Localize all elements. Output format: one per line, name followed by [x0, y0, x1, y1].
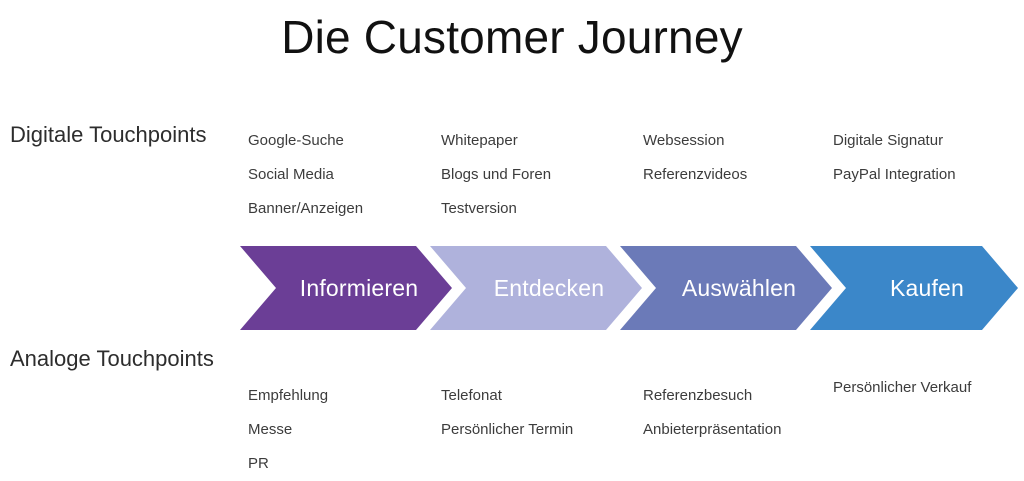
list-item: Whitepaper — [441, 124, 551, 158]
list-item: Persönlicher Termin — [441, 413, 573, 447]
analog-touchpoints-column-entdecken: Telefonat Persönlicher Termin — [441, 379, 573, 447]
list-item: Persönlicher Verkauf — [833, 371, 971, 405]
list-item: Social Media — [248, 158, 363, 192]
stage-label: Entdecken — [430, 275, 642, 302]
stage-chevron-auswaehlen[interactable]: Auswählen — [620, 246, 832, 330]
stage-label: Auswählen — [620, 275, 832, 302]
stage-chevron-kaufen[interactable]: Kaufen — [810, 246, 1018, 330]
list-item: Anbieterpräsentation — [643, 413, 781, 447]
stage-label: Kaufen — [810, 275, 1018, 302]
list-item: Telefonat — [441, 379, 573, 413]
page-title: Die Customer Journey — [0, 12, 1024, 63]
list-item: Websession — [643, 124, 747, 158]
stage-chevron-entdecken[interactable]: Entdecken — [430, 246, 642, 330]
analog-touchpoints-heading: Analoge Touchpoints — [10, 346, 214, 372]
digital-touchpoints-column-informieren: Google-Suche Social Media Banner/Anzeige… — [248, 124, 363, 226]
digital-touchpoints-column-kaufen: Digitale Signatur PayPal Integration — [833, 124, 956, 192]
analog-touchpoints-column-informieren: Empfehlung Messe PR — [248, 379, 328, 481]
digital-touchpoints-column-entdecken: Whitepaper Blogs und Foren Testversion — [441, 124, 551, 226]
list-item: PayPal Integration — [833, 158, 956, 192]
customer-journey-slide: Die Customer Journey Digitale Touchpoint… — [0, 0, 1024, 469]
list-item: Google-Suche — [248, 124, 363, 158]
analog-touchpoints-column-auswaehlen: Referenzbesuch Anbieterpräsentation — [643, 379, 781, 447]
list-item: Digitale Signatur — [833, 124, 956, 158]
stage-label: Informieren — [240, 275, 452, 302]
list-item: Banner/Anzeigen — [248, 192, 363, 226]
stage-chevron-informieren[interactable]: Informieren — [240, 246, 452, 330]
list-item: Referenzbesuch — [643, 379, 781, 413]
customer-journey-stage-band: Informieren Entdecken Auswählen Kaufen — [0, 246, 1024, 334]
list-item: Messe — [248, 413, 328, 447]
digital-touchpoints-column-auswaehlen: Websession Referenzvideos — [643, 124, 747, 192]
digital-touchpoints-heading: Digitale Touchpoints — [10, 122, 207, 148]
list-item: Blogs und Foren — [441, 158, 551, 192]
analog-touchpoints-column-kaufen: Persönlicher Verkauf — [833, 371, 971, 405]
list-item: Referenzvideos — [643, 158, 747, 192]
list-item: Testversion — [441, 192, 551, 226]
list-item: PR — [248, 447, 328, 481]
list-item: Empfehlung — [248, 379, 328, 413]
